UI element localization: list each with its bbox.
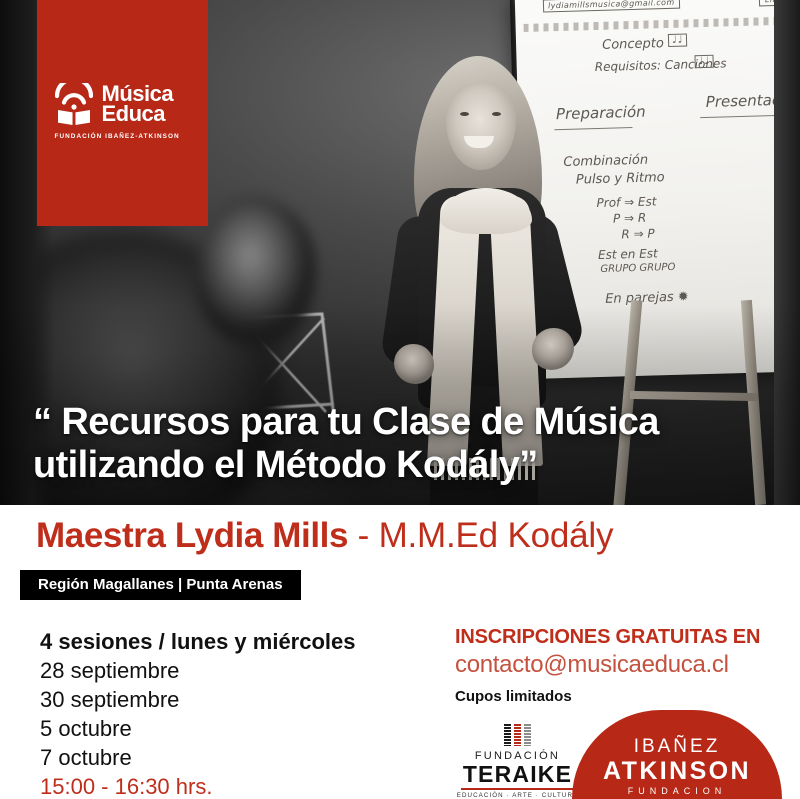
- teraike-bars-icon: [455, 724, 580, 746]
- whiteboard-concepto: Concepto: [602, 36, 664, 53]
- atkinson-atkinson: ATKINSON: [572, 758, 782, 784]
- schedule-time: 15:00 - 16:30 hrs.: [40, 772, 430, 799]
- signup-email[interactable]: contacto@musicaeduca.cl: [455, 651, 785, 679]
- whiteboard-item-a: Prof ⇒ Est: [596, 194, 656, 210]
- atkinson-ibanez: IBAÑEZ: [572, 736, 782, 758]
- schedule-date: 5 octubre: [40, 714, 430, 743]
- whiteboard-item-a2: R ⇒ P: [621, 226, 655, 241]
- schedule-date: 30 septiembre: [40, 685, 430, 714]
- signup-block: INSCRIPCIONES GRATUITAS EN contacto@musi…: [455, 626, 785, 705]
- whiteboard-requisitos-box: ♩♩: [694, 55, 714, 69]
- teraike-logo: FUNDACIÓN TERAIKE EDUCACIÓN · ARTE · CUL…: [455, 724, 580, 799]
- whiteboard-item-a1: P ⇒ R: [613, 211, 647, 226]
- speaker-credential: - M.M.Ed Kodály: [348, 516, 613, 555]
- teraike-name: TERAIKE: [455, 762, 580, 786]
- whiteboard-item-b: Est en Est: [598, 246, 658, 262]
- whiteboard-bullet-pulso: Pulso y Ritmo: [576, 170, 665, 187]
- poster-title: “ Recursos para tu Clase de Música utili…: [33, 401, 779, 486]
- poster-canvas: lydiamillsmusica@gmail.com Link Concepto…: [0, 0, 800, 799]
- schedule-block: 4 sesiones / lunes y miércoles 28 septie…: [40, 627, 430, 799]
- wifi-book-icon: [55, 83, 93, 125]
- signup-heading: INSCRIPCIONES GRATUITAS EN: [455, 626, 785, 649]
- atkinson-fundacion: FUNDACION: [572, 786, 782, 796]
- schedule-date: 28 septiembre: [40, 656, 430, 685]
- whiteboard-item-b-sub: GRUPO GRUPO: [600, 262, 675, 275]
- teraike-tagline: EDUCACIÓN · ARTE · CULTURA: [455, 792, 580, 799]
- whiteboard-concepto-box: ♩♩: [668, 33, 688, 47]
- speaker-line: Maestra Lydia Mills - M.M.Ed Kodály: [36, 517, 796, 556]
- title-line-1: “ Recursos para tu Clase de Música: [33, 401, 779, 444]
- whiteboard-squiggle: [524, 16, 800, 32]
- speaker-name: Maestra Lydia Mills: [36, 516, 348, 555]
- ibanez-atkinson-logo: IBAÑEZ ATKINSON FUNDACION: [572, 710, 782, 799]
- schedule-heading: 4 sesiones / lunes y miércoles: [40, 627, 430, 656]
- title-line-2: utilizando el Método Kodály”: [33, 444, 779, 487]
- schedule-date: 7 octubre: [40, 743, 430, 772]
- teraike-rule: [461, 788, 574, 789]
- logo-text-educa: Educa: [102, 104, 174, 124]
- logo-subtitle: FUNDACIÓN IBAÑEZ-ATKINSON: [55, 133, 180, 140]
- brand-logo-block: Música Educa FUNDACIÓN IBAÑEZ-ATKINSON: [37, 0, 208, 226]
- region-badge: Región Magallanes | Punta Arenas: [20, 570, 301, 600]
- signup-note: Cupos limitados: [455, 688, 785, 705]
- whiteboard-email: lydiamillsmusica@gmail.com: [543, 0, 680, 12]
